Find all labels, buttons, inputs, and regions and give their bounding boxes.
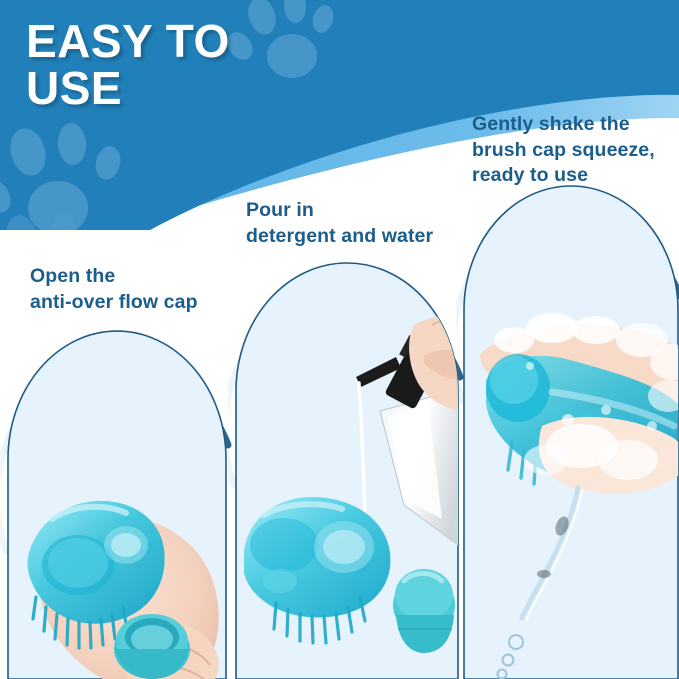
brush-cap	[114, 614, 190, 679]
easy-to-use-infographic: EASY TO USE	[0, 0, 679, 679]
step-caption-3: Gently shake the brush cap squeeze, read…	[472, 112, 655, 189]
step-panel-1	[0, 319, 234, 679]
step-caption-2: Pour in detergent and water	[246, 198, 433, 249]
step-panel-3-graphic	[456, 174, 679, 679]
step-caption-1: Open the anti-over flow cap	[30, 264, 198, 315]
page-title: EASY TO USE	[26, 18, 356, 112]
step-panel-1-graphic	[0, 319, 234, 679]
step-panel-2-graphic	[228, 251, 466, 679]
step-panel-3	[456, 174, 679, 679]
step-panel-2	[228, 251, 466, 679]
